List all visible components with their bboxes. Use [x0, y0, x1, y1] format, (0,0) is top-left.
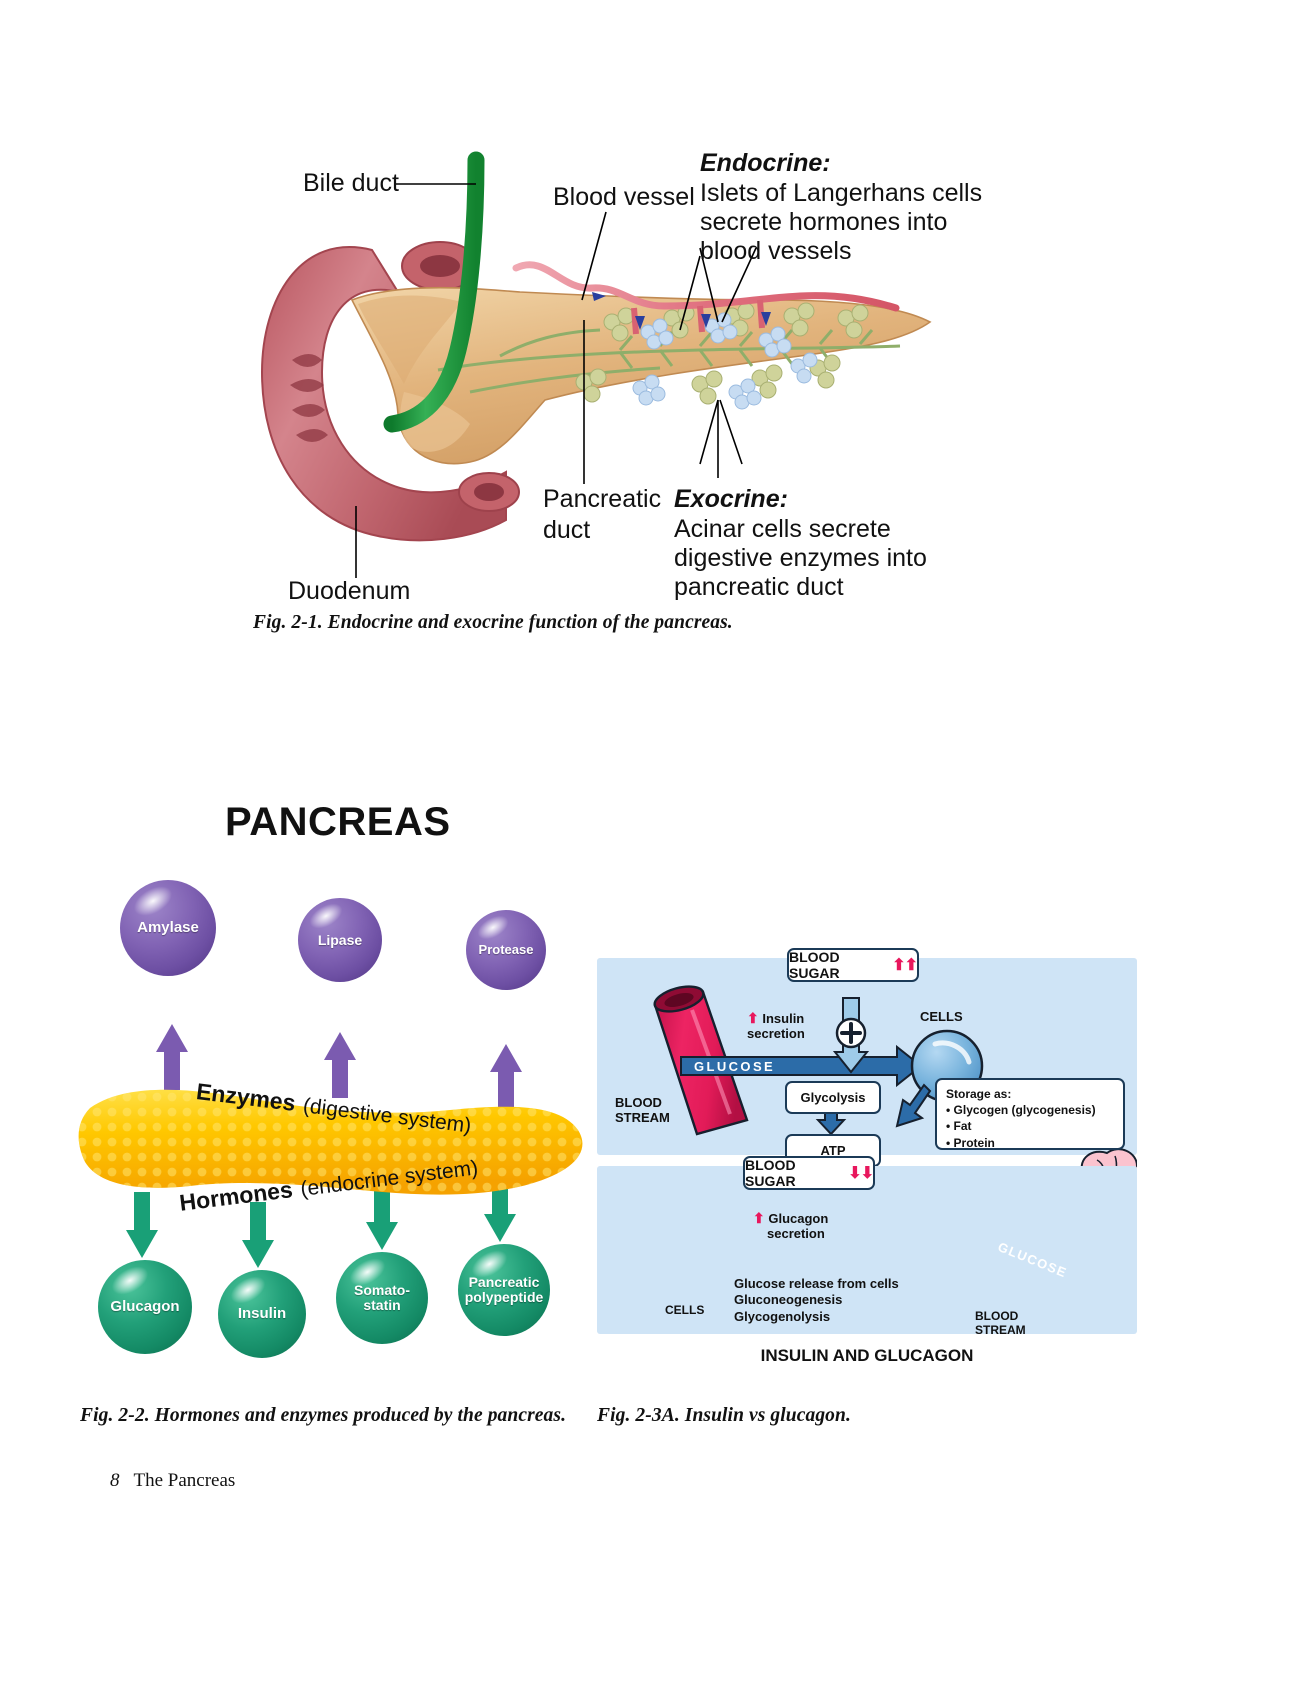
label-pancreatic-duct-line2: duct: [543, 515, 590, 546]
pancreas-anatomy-illustration: [0, 0, 1313, 660]
cells-label-top: CELLS: [920, 1010, 963, 1025]
blood-stream-label-bottom: BLOOD STREAM: [975, 1310, 1026, 1338]
figure-2-3a: BLOOD SUGAR ⬆⬆ ⬆ Insulin secretion GLUCO…: [597, 948, 1137, 1368]
label-bile-duct: Bile duct: [303, 168, 399, 199]
up-arrow-icon: ⬆: [747, 1010, 759, 1026]
figure-2-2-caption: Fig. 2-2. Hormones and enzymes produced …: [80, 1405, 566, 1427]
label-endocrine-line2: secrete hormones into: [700, 207, 947, 238]
label-duodenum: Duodenum: [288, 576, 410, 607]
label-blood-vessel: Blood vessel: [553, 182, 695, 213]
cells-label-bottom: CELLS: [665, 1304, 704, 1318]
label-exocrine-heading: Exocrine:: [674, 484, 788, 515]
plus-circle-top: [837, 1019, 865, 1047]
blood-sugar-box-high: BLOOD SUGAR ⬆⬆: [787, 948, 919, 982]
figure-2-1: Bile duct Blood vessel Duodenum Pancreat…: [0, 0, 1313, 660]
label-endocrine-line1: Islets of Langerhans cells: [700, 178, 982, 209]
label-exocrine-line3: pancreatic duct: [674, 572, 844, 603]
hormone-sphere-insulin: Insulin: [218, 1270, 306, 1358]
storage-box: Storage as: • Glycogen (glycogenesis) • …: [935, 1078, 1125, 1150]
glucose-label-top: GLUCOSE: [685, 1056, 805, 1076]
up-arrow-icon: ⬆: [753, 1210, 765, 1226]
blood-sugar-box-low: BLOOD SUGAR ⬇⬇: [743, 1156, 875, 1190]
insulin-and-glucagon-title: INSULIN AND GLUCAGON: [597, 1346, 1137, 1366]
page-number: 8: [110, 1470, 120, 1491]
up-arrows-icon: ⬆⬆: [892, 955, 917, 975]
insulin-secretion-label: ⬆ Insulin secretion: [747, 1010, 805, 1042]
label-endocrine-heading: Endocrine:: [700, 148, 831, 179]
down-arrows-icon: ⬇⬇: [848, 1163, 873, 1183]
label-exocrine-line1: Acinar cells secrete: [674, 514, 891, 545]
figure-2-2: PANCREAS Amylase Lipase Protease: [60, 760, 620, 1400]
hormone-sphere-glucagon: Glucagon: [98, 1260, 192, 1354]
label-exocrine-line2: digestive enzymes into: [674, 543, 927, 574]
glucagon-secretion-label: ⬆ Glucagon secretion: [753, 1210, 828, 1242]
glucose-release-label: Glucose release from cells Gluconeogenes…: [734, 1276, 899, 1325]
hormone-sphere-somatostatin: Somato- statin: [336, 1252, 428, 1344]
hormone-sphere-pancreatic-polypeptide: Pancreatic polypeptide: [458, 1244, 550, 1336]
label-pancreatic-duct-line1: Pancreatic: [543, 484, 661, 515]
blood-stream-label-top: BLOOD STREAM: [615, 1096, 670, 1126]
glycolysis-box: Glycolysis: [785, 1081, 881, 1114]
figure-2-1-caption: Fig. 2-1. Endocrine and exocrine functio…: [253, 612, 733, 634]
chapter-title: The Pancreas: [134, 1470, 236, 1491]
figure-2-3a-caption: Fig. 2-3A. Insulin vs glucagon.: [597, 1405, 851, 1427]
label-endocrine-line3: blood vessels: [700, 236, 851, 267]
page-footer: 8The Pancreas: [110, 1470, 235, 1492]
textbook-page: Bile duct Blood vessel Duodenum Pancreat…: [0, 0, 1313, 1688]
